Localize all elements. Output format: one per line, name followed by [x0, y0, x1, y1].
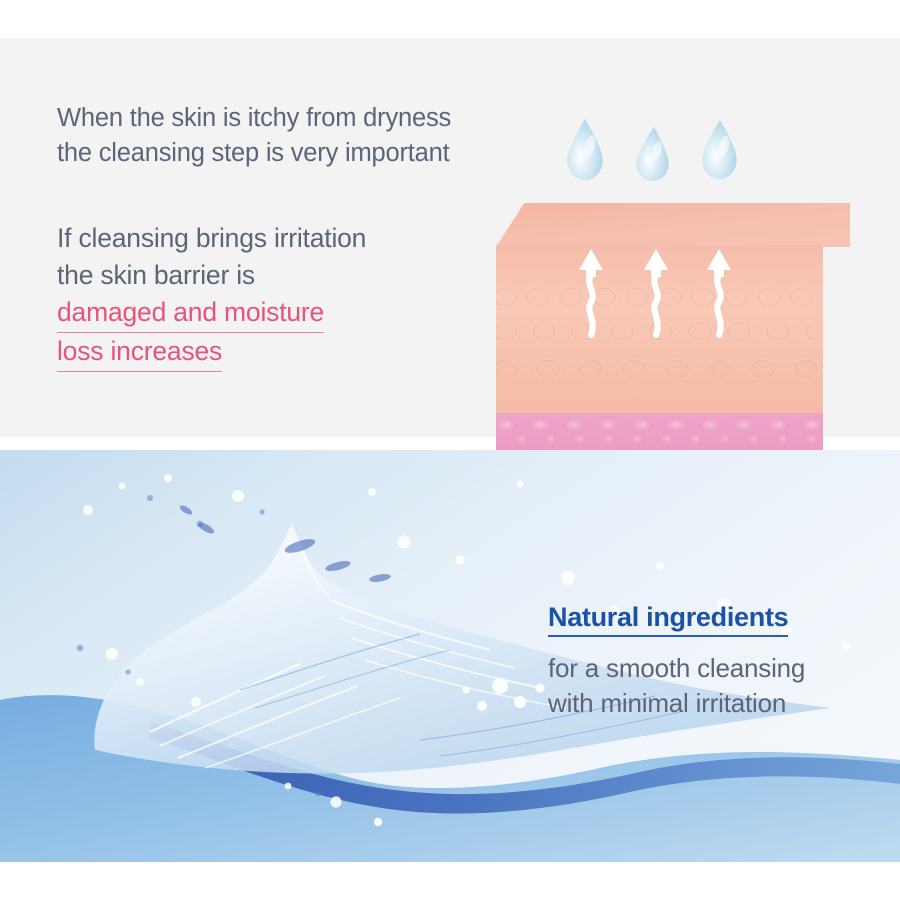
skin-surface-top-face — [496, 203, 850, 247]
water-panel-copy: Natural ingredients for a smooth cleansi… — [548, 602, 878, 721]
water-droplets-group — [562, 116, 762, 186]
skin-cross-section-diagram — [480, 98, 880, 458]
paragraph-1-line-1: When the skin is itchy from dryness — [57, 101, 477, 136]
highlight-text-line-2: loss increases — [57, 333, 222, 372]
highlight-text-line-1: damaged and moisture — [57, 294, 324, 333]
water-panel-subtext-line-2: with minimal irritation — [548, 686, 878, 721]
moisture-loss-arrow-icon-2 — [641, 247, 671, 344]
water-splash-panel: Natural ingredients for a smooth cleansi… — [0, 450, 900, 862]
natural-ingredients-heading: Natural ingredients — [548, 602, 788, 637]
skin-info-panel: When the skin is itchy from dryness the … — [0, 38, 900, 437]
dermis-base-layer — [496, 413, 823, 453]
paragraph-2-line-1: If cleansing brings irritation — [57, 220, 477, 257]
moisture-loss-arrows-group — [496, 245, 823, 413]
paragraph-1-line-2: the cleansing step is very important — [57, 136, 477, 171]
product-detail-page: When the skin is itchy from dryness the … — [0, 0, 900, 900]
paragraph-2: If cleansing brings irritation the skin … — [57, 220, 477, 372]
moisture-loss-arrow-icon-1 — [576, 247, 606, 344]
moisture-loss-arrow-icon-3 — [704, 247, 734, 344]
paragraph-1: When the skin is itchy from dryness the … — [57, 101, 477, 171]
water-panel-subtext: for a smooth cleansing with minimal irri… — [548, 651, 878, 721]
paragraph-2-line-2: the skin barrier is — [57, 257, 477, 294]
water-panel-subtext-line-1: for a smooth cleansing — [548, 651, 878, 686]
skin-block — [496, 203, 850, 453]
top-panel-copy: When the skin is itchy from dryness the … — [57, 101, 477, 372]
